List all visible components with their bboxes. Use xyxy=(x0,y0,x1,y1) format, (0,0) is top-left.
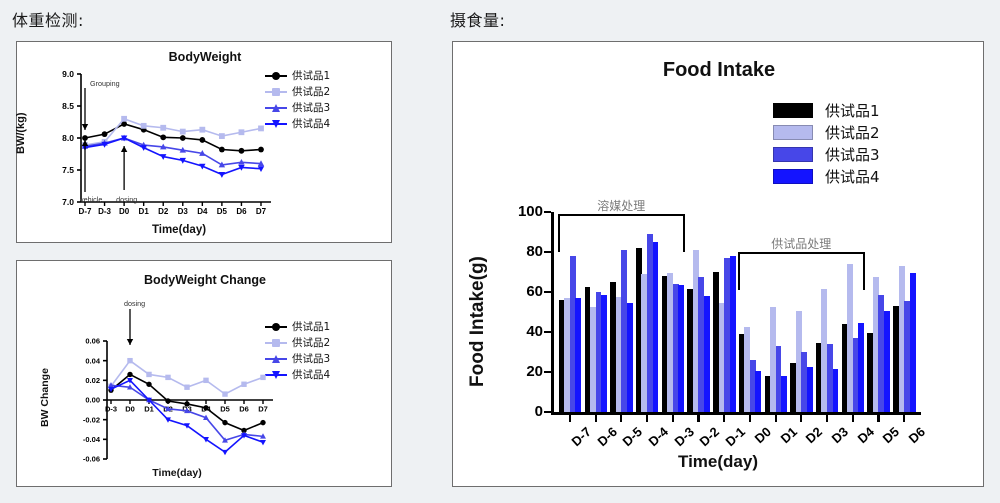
legend-label: 供试品4 xyxy=(825,166,880,187)
series-line xyxy=(85,138,261,174)
data-point-marker xyxy=(239,129,245,135)
y-tick-label: 40 xyxy=(499,323,543,340)
food-intake-chart-card: Food Intake 供试品1 供试品2 供试品3 供试品4 Food Int… xyxy=(452,41,984,487)
bar xyxy=(884,311,890,412)
y-tick xyxy=(544,411,551,414)
legend-item-4[interactable]: 供试品4 xyxy=(773,166,880,186)
bar xyxy=(627,303,633,412)
bar xyxy=(781,376,787,412)
x-tick-label: D5 xyxy=(220,405,230,414)
y-axis xyxy=(551,212,554,412)
x-tick-label: D6 xyxy=(236,207,247,216)
legend-item-3[interactable]: 供试品3 xyxy=(773,144,880,164)
y-tick xyxy=(544,331,551,334)
y-tick-label: 0.06 xyxy=(85,337,100,346)
data-point-marker xyxy=(160,125,166,131)
y-tick-label: 8.0 xyxy=(62,133,74,143)
bar xyxy=(575,298,581,412)
x-tick-label: D4 xyxy=(197,207,208,216)
x-tick-label: D-6 xyxy=(589,424,620,454)
y-tick xyxy=(544,251,551,254)
y-tick-label: -0.06 xyxy=(83,455,100,464)
data-point-marker xyxy=(127,372,132,377)
annotation-arrow xyxy=(127,309,133,345)
bar xyxy=(730,256,736,412)
x-tick-label: D4 xyxy=(846,424,877,454)
report-page: 体重检测: 摄食量: BodyWeight 供试品1 供试品2 xyxy=(0,0,1000,503)
x-tick-label: D7 xyxy=(256,207,267,216)
y-tick-label: 0.02 xyxy=(85,376,100,385)
data-point-marker xyxy=(219,147,225,153)
x-tick-label: D1 xyxy=(139,207,150,216)
bodyweight-change-plot: -0.06-0.04-0.020.000.020.040.06D-3D0D1D2… xyxy=(17,261,393,488)
food-intake-section-label: 摄食量: xyxy=(450,7,505,31)
x-tick-label: D-3 xyxy=(666,424,697,454)
x-tick-label: D5 xyxy=(872,424,903,454)
bodyweight-change-chart-card: BodyWeight Change 供试品1 供试品2 xyxy=(16,260,392,487)
food-intake-legend: 供试品1 供试品2 供试品3 供试品4 xyxy=(773,100,880,188)
x-tick xyxy=(595,415,597,422)
y-tick-label: 0.00 xyxy=(85,396,100,405)
bar xyxy=(601,295,607,412)
x-tick xyxy=(749,415,751,422)
annotation-label: Grouping xyxy=(90,79,120,88)
food-intake-x-axis-title: Time(day) xyxy=(553,452,883,472)
data-point-marker xyxy=(184,385,189,390)
food-intake-y-axis-title: Food Intake(g) xyxy=(467,256,489,387)
bodyweight-chart-card: BodyWeight 供试品1 供试品2 xyxy=(16,41,392,243)
data-point-marker xyxy=(121,116,127,122)
x-tick-label: D-4 xyxy=(640,424,671,454)
x-tick xyxy=(723,415,725,422)
annotation-label: dosing xyxy=(116,195,137,204)
y-tick-label: 8.5 xyxy=(62,101,74,111)
bar xyxy=(833,369,839,412)
data-point-marker xyxy=(222,391,227,396)
legend-label: 供试品3 xyxy=(825,144,880,165)
data-point-marker xyxy=(199,127,205,133)
data-point-marker xyxy=(180,129,186,135)
y-tick xyxy=(544,211,551,214)
x-tick-label: D3 xyxy=(178,207,189,216)
x-tick-label: D-7 xyxy=(563,424,594,454)
x-axis xyxy=(551,412,921,415)
data-point-marker xyxy=(219,133,225,139)
series3-swatch-icon xyxy=(773,147,813,162)
data-point-marker xyxy=(239,148,245,154)
x-tick-label: D-5 xyxy=(614,424,645,454)
y-tick-label: 80 xyxy=(499,243,543,260)
legend-item-2[interactable]: 供试品2 xyxy=(773,122,880,142)
x-tick-label: D2 xyxy=(158,207,169,216)
series-line xyxy=(111,380,263,452)
bar xyxy=(653,242,659,412)
data-point-marker xyxy=(203,405,208,410)
series2-swatch-icon xyxy=(773,125,813,140)
x-tick-label: D6 xyxy=(897,424,928,454)
data-point-marker xyxy=(241,382,246,387)
x-tick xyxy=(646,415,648,422)
food-intake-plot xyxy=(557,212,917,412)
x-tick xyxy=(800,415,802,422)
bodyweight-plot: 7.07.58.08.59.0D-7D-3D0D1D2D3D4D5D6D7Gro… xyxy=(17,42,393,244)
y-tick-label: 7.5 xyxy=(62,165,74,175)
x-tick-label: D6 xyxy=(239,405,249,414)
y-tick-label: 7.0 xyxy=(62,197,74,207)
data-point-marker xyxy=(165,398,170,403)
y-tick-label: 20 xyxy=(499,363,543,380)
y-tick-label: 0 xyxy=(499,403,543,420)
y-tick xyxy=(544,371,551,374)
x-tick-label: D-3 xyxy=(98,207,111,216)
data-point-marker xyxy=(203,378,208,383)
x-tick xyxy=(903,415,905,422)
data-point-marker xyxy=(146,372,151,377)
bar xyxy=(704,296,710,412)
x-tick-label: D-1 xyxy=(717,424,748,454)
data-point-marker xyxy=(141,123,147,129)
data-point-marker xyxy=(219,172,225,178)
x-tick xyxy=(569,415,571,422)
food-intake-chart-title: Food Intake xyxy=(453,59,985,82)
bar xyxy=(755,371,761,412)
data-point-marker xyxy=(260,440,266,445)
x-tick-label: D7 xyxy=(258,405,268,414)
x-tick-label: D0 xyxy=(125,405,135,414)
y-tick-label: -0.02 xyxy=(83,415,100,424)
x-tick-label: D1 xyxy=(144,405,154,414)
x-tick-label: D1 xyxy=(769,424,800,454)
annotation-label: dosing xyxy=(124,299,145,308)
annotation-arrow xyxy=(121,146,127,190)
data-point-marker xyxy=(258,147,264,153)
x-tick-label: D-3 xyxy=(105,405,117,414)
legend-item-1[interactable]: 供试品1 xyxy=(773,100,880,120)
x-tick-label: D2 xyxy=(794,424,825,454)
x-tick xyxy=(877,415,879,422)
y-tick-label: 0.04 xyxy=(85,356,100,365)
x-tick-label: D3 xyxy=(820,424,851,454)
y-tick xyxy=(544,291,551,294)
x-tick-label: D-2 xyxy=(692,424,723,454)
data-point-marker xyxy=(260,420,265,425)
data-point-marker xyxy=(146,382,151,387)
data-point-marker xyxy=(165,375,170,380)
x-tick-label: D-7 xyxy=(79,207,92,216)
data-point-marker xyxy=(258,126,264,132)
data-point-marker xyxy=(199,137,205,143)
y-tick-label: 100 xyxy=(499,203,543,220)
annotation-arrow xyxy=(82,88,88,130)
annotation-label: vehicle xyxy=(80,195,102,204)
data-point-marker xyxy=(160,134,166,140)
x-tick xyxy=(852,415,854,422)
bodyweight-section-label: 体重检测: xyxy=(12,7,84,31)
x-tick xyxy=(620,415,622,422)
x-tick-label: D0 xyxy=(119,207,130,216)
bar xyxy=(858,323,864,412)
data-point-marker xyxy=(260,375,265,380)
bar xyxy=(807,367,813,412)
x-tick-label: D5 xyxy=(217,207,228,216)
data-point-marker xyxy=(180,135,186,141)
series1-swatch-icon xyxy=(773,103,813,118)
bar xyxy=(678,285,684,412)
data-point-marker xyxy=(102,131,108,137)
data-point-marker xyxy=(222,450,228,455)
x-tick xyxy=(775,415,777,422)
x-tick xyxy=(697,415,699,422)
y-tick-label: -0.04 xyxy=(83,435,101,444)
data-point-marker xyxy=(127,358,132,363)
y-tick-label: 60 xyxy=(499,283,543,300)
legend-label: 供试品1 xyxy=(825,100,880,121)
x-tick xyxy=(672,415,674,422)
legend-label: 供试品2 xyxy=(825,122,880,143)
series4-swatch-icon xyxy=(773,169,813,184)
data-point-marker xyxy=(184,401,189,406)
bar xyxy=(910,273,916,412)
series-line xyxy=(85,124,261,151)
x-tick-label: D0 xyxy=(743,424,774,454)
data-point-marker xyxy=(222,420,227,425)
x-tick xyxy=(826,415,828,422)
y-tick-label: 9.0 xyxy=(62,69,74,79)
